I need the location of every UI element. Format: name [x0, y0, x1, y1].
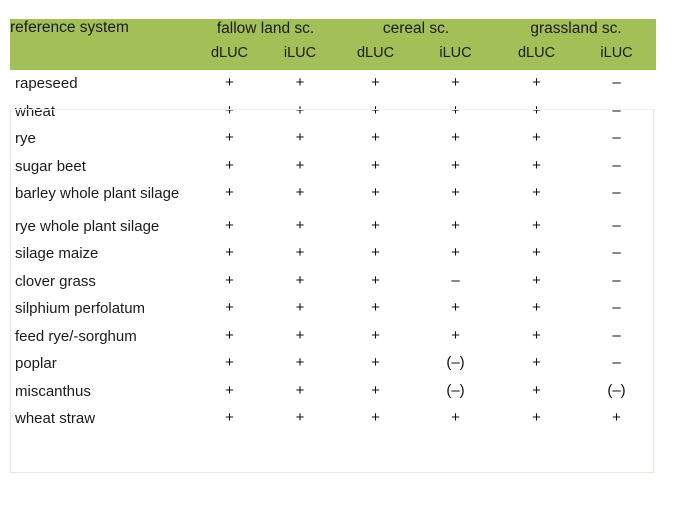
cell-value: +	[336, 378, 415, 406]
cell-value: +	[415, 125, 496, 153]
cell-value: –	[577, 125, 656, 153]
cell-value: +	[496, 295, 577, 323]
cell-value: +	[496, 213, 577, 241]
cell-value: +	[195, 70, 264, 98]
table-row: rye+++++–	[10, 125, 656, 153]
cell-value: +	[195, 125, 264, 153]
row-label: miscanthus	[10, 378, 195, 406]
table-row: silage maize+++++–	[10, 240, 656, 268]
table-row: silphium perfolatum+++++–	[10, 295, 656, 323]
header-sub-grassland-dluc: dLUC	[496, 39, 577, 70]
cell-value: +	[415, 98, 496, 126]
header-reference-system: reference system	[10, 19, 195, 70]
cell-value: –	[577, 213, 656, 241]
cell-value: –	[577, 153, 656, 181]
cell-value: +	[496, 180, 577, 213]
cell-value: +	[336, 405, 415, 433]
cell-value: +	[415, 213, 496, 241]
table-row: barley whole plant silage+++++–	[10, 180, 656, 213]
cell-value: +	[195, 98, 264, 126]
cell-value: +	[415, 153, 496, 181]
row-label: wheat straw	[10, 405, 195, 433]
cell-value: +	[264, 213, 336, 241]
cell-value: +	[336, 350, 415, 378]
header-sub-cereal-dluc: dLUC	[336, 39, 415, 70]
header-group-cereal: cereal sc.	[336, 19, 496, 39]
table-header: reference system fallow land sc. cereal …	[10, 19, 656, 70]
cell-value: +	[496, 405, 577, 433]
table-row: clover grass+++–+–	[10, 268, 656, 296]
cell-value: +	[195, 405, 264, 433]
cell-value: +	[577, 405, 656, 433]
reference-system-table-container: reference system fallow land sc. cereal …	[10, 19, 656, 433]
cell-value: +	[415, 405, 496, 433]
cell-value: +	[415, 295, 496, 323]
cell-value: +	[195, 378, 264, 406]
cell-value: (–)	[415, 350, 496, 378]
cell-value: +	[336, 125, 415, 153]
cell-value: –	[577, 295, 656, 323]
cell-value: +	[415, 180, 496, 213]
cell-value: +	[336, 323, 415, 351]
header-group-fallow-land: fallow land sc.	[195, 19, 336, 39]
cell-value: +	[336, 240, 415, 268]
cell-value: –	[577, 70, 656, 98]
cell-value: +	[496, 98, 577, 126]
table-row: rye whole plant silage+++++–	[10, 213, 656, 241]
row-label: clover grass	[10, 268, 195, 296]
header-sub-fallow-iluc: iLUC	[264, 39, 336, 70]
header-sub-fallow-dluc: dLUC	[195, 39, 264, 70]
row-label: feed rye/-sorghum	[10, 323, 195, 351]
row-label: rye	[10, 125, 195, 153]
table-row: sugar beet+++++–	[10, 153, 656, 181]
cell-value: +	[264, 70, 336, 98]
cell-value: +	[264, 350, 336, 378]
cell-value: +	[264, 323, 336, 351]
cell-value: –	[415, 268, 496, 296]
table-row: poplar+++(–)+–	[10, 350, 656, 378]
header-sub-grassland-iluc: iLUC	[577, 39, 656, 70]
cell-value: +	[496, 350, 577, 378]
row-label: rapeseed	[10, 70, 195, 98]
cell-value: +	[336, 295, 415, 323]
cell-value: –	[577, 350, 656, 378]
cell-value: +	[336, 213, 415, 241]
cell-value: +	[336, 153, 415, 181]
cell-value: +	[264, 98, 336, 126]
cell-value: +	[195, 323, 264, 351]
cell-value: +	[496, 240, 577, 268]
cell-value: +	[496, 125, 577, 153]
cell-value: +	[264, 125, 336, 153]
cell-value: +	[496, 378, 577, 406]
cell-value: –	[577, 240, 656, 268]
row-label: sugar beet	[10, 153, 195, 181]
cell-value: +	[195, 213, 264, 241]
cell-value: +	[496, 268, 577, 296]
table-row: wheat straw++++++	[10, 405, 656, 433]
cell-value: –	[577, 180, 656, 213]
cell-value: +	[264, 240, 336, 268]
cell-value: +	[496, 153, 577, 181]
cell-value: +	[415, 70, 496, 98]
cell-value: +	[336, 268, 415, 296]
cell-value: +	[264, 268, 336, 296]
cell-value: (–)	[577, 378, 656, 406]
row-label: barley whole plant silage	[10, 180, 195, 213]
table-row: feed rye/-sorghum+++++–	[10, 323, 656, 351]
cell-value: +	[195, 350, 264, 378]
cell-value: –	[577, 98, 656, 126]
cell-value: +	[415, 240, 496, 268]
row-label: rye whole plant silage	[10, 213, 195, 241]
cell-value: –	[577, 323, 656, 351]
cell-value: +	[496, 70, 577, 98]
row-label: poplar	[10, 350, 195, 378]
cell-value: –	[577, 268, 656, 296]
cell-value: +	[264, 378, 336, 406]
row-label: silage maize	[10, 240, 195, 268]
cell-value: +	[195, 240, 264, 268]
row-label: wheat	[10, 98, 195, 126]
table-body: rapeseed+++++–wheat+++++–rye+++++–sugar …	[10, 70, 656, 433]
cell-value: +	[195, 180, 264, 213]
cell-value: +	[264, 295, 336, 323]
cell-value: (–)	[415, 378, 496, 406]
reference-system-table: reference system fallow land sc. cereal …	[10, 19, 656, 433]
table-row: rapeseed+++++–	[10, 70, 656, 98]
cell-value: +	[195, 268, 264, 296]
cell-value: +	[336, 180, 415, 213]
header-sub-cereal-iluc: iLUC	[415, 39, 496, 70]
row-label: silphium perfolatum	[10, 295, 195, 323]
table-row: wheat+++++–	[10, 98, 656, 126]
header-group-grassland: grassland sc.	[496, 19, 656, 39]
cell-value: +	[336, 98, 415, 126]
cell-value: +	[264, 180, 336, 213]
cell-value: +	[264, 405, 336, 433]
cell-value: +	[415, 323, 496, 351]
cell-value: +	[195, 295, 264, 323]
header-group-row: reference system fallow land sc. cereal …	[10, 19, 656, 39]
cell-value: +	[264, 153, 336, 181]
table-row: miscanthus+++(–)+(–)	[10, 378, 656, 406]
cell-value: +	[336, 70, 415, 98]
cell-value: +	[195, 153, 264, 181]
cell-value: +	[496, 323, 577, 351]
